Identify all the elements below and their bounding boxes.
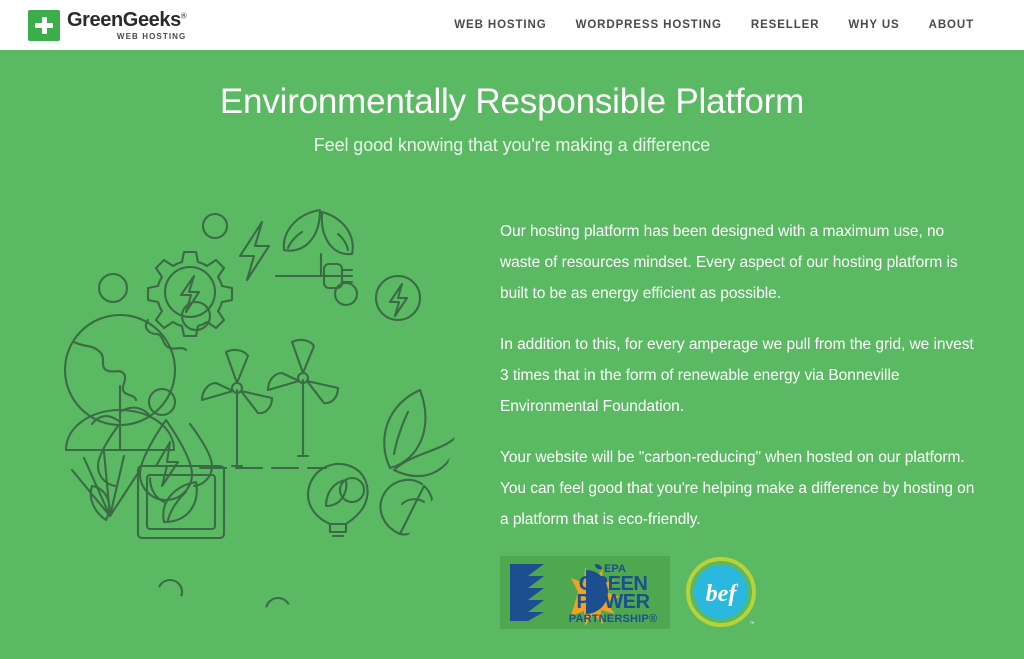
green-plus-logo-icon [28,10,60,41]
nav-web-hosting[interactable]: WEB HOSTING [454,19,546,31]
brand-name: GreenGeeks® [67,10,186,30]
hero-paragraph-3: Your website will be "carbon-reducing" w… [500,442,980,535]
nav-about[interactable]: ABOUT [929,19,974,31]
epa-green-power-partnership-badge[interactable]: EPA GREEN POWER PARTNERSHIP® [500,556,670,629]
epa-badge-line3: POWER [576,591,650,613]
gear-lightning-icon [148,252,232,336]
wind-turbine-icon [268,340,338,456]
page-subtitle: Feel good knowing that you're making a d… [0,135,1024,156]
nav-wordpress-hosting[interactable]: WORDPRESS HOSTING [576,19,722,31]
decor-circle-icon [158,580,182,604]
decor-circle-icon [266,598,290,610]
leaf-bulb-icon [381,480,433,535]
hero-body: Our hosting platform has been designed w… [0,182,1024,629]
decor-circle-icon [149,389,175,415]
framed-leaf-icon [138,466,224,538]
brand-name-text: GreenGeeks [67,9,181,31]
decor-circle-icon [99,274,127,302]
main-navigation: WEB HOSTING WORDPRESS HOSTING RESELLER W… [454,19,996,31]
bonneville-environmental-foundation-badge[interactable]: bef ™ [684,555,758,629]
nav-why-us[interactable]: WHY US [848,19,899,31]
registered-trademark-icon: ® [181,11,187,20]
site-header: GreenGeeks® WEB HOSTING WEB HOSTING WORD… [0,0,1024,50]
water-drop-icon [190,424,212,486]
certification-badges: EPA GREEN POWER PARTNERSHIP® bef ™ [500,555,1010,629]
energy-leaf-circle-icon [376,276,420,320]
eco-icons-collage-illustration [40,190,460,610]
brand-wordmark: GreenGeeks® WEB HOSTING [67,10,186,41]
leaf-plug-icon [276,210,353,288]
decor-circle-icon [335,283,357,305]
page-title: Environmentally Responsible Platform [0,50,1024,123]
illustration-column [0,182,500,610]
globe-plant-icon [65,315,186,450]
sun-burst-icon [72,452,140,520]
bef-wordmark: bef [706,581,739,607]
brand-tagline: WEB HOSTING [117,33,186,41]
leaf-pair-icon [384,390,460,476]
decor-circle-icon [203,214,227,238]
wind-turbine-icon [202,350,272,466]
hero-copy-column: Our hosting platform has been designed w… [500,182,1024,629]
hero-paragraph-2: In addition to this, for every amperage … [500,329,980,422]
bef-trademark-icon: ™ [750,621,755,627]
nav-reseller[interactable]: RESELLER [751,19,820,31]
epa-badge-line4: PARTNERSHIP® [569,613,658,625]
hero-section: Environmentally Responsible Platform Fee… [0,50,1024,659]
lightning-bolt-icon [240,222,269,280]
brand-logo-link[interactable]: GreenGeeks® WEB HOSTING [28,10,186,41]
decor-circle-icon [65,575,91,601]
decor-circle-icon [421,585,447,610]
water-drop-icon [98,426,118,486]
hero-paragraph-1: Our hosting platform has been designed w… [500,216,980,309]
